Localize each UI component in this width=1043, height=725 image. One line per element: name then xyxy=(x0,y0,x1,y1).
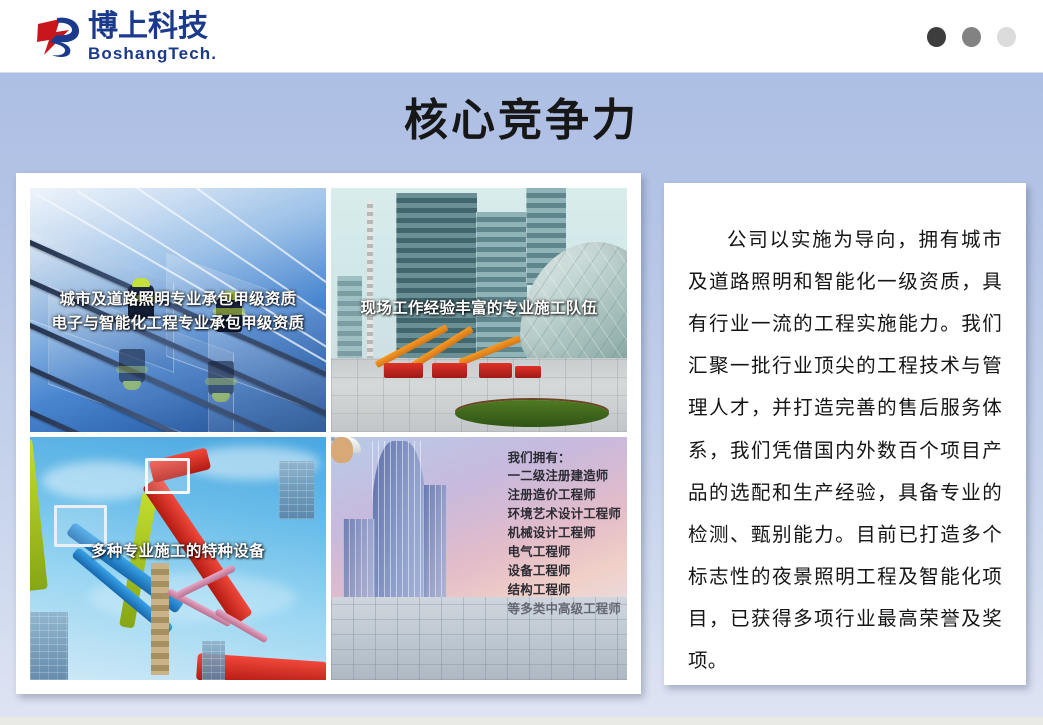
slide-root: 博上科技 BoshangTech. 核心竞争力 xyxy=(0,0,1043,725)
header-dots-group xyxy=(927,0,1016,73)
header-bar: 博上科技 BoshangTech. xyxy=(0,0,1043,73)
dot-dark-icon[interactable] xyxy=(927,27,946,47)
description-paragraph: 公司以实施为导向，拥有城市及道路照明和智能化一级资质，具有行业一流的工程实施能力… xyxy=(688,219,1002,682)
dot-light-icon[interactable] xyxy=(997,27,1016,47)
bottom-strip xyxy=(0,717,1043,725)
logo-english-name: BoshangTech. xyxy=(88,45,217,62)
tile-special-equipment[interactable]: 多种专业施工的特种设备 xyxy=(30,437,326,681)
company-logo[interactable]: 博上科技 BoshangTech. xyxy=(36,12,217,62)
tile-construction-team-artwork xyxy=(331,188,627,432)
tile-engineer-talent[interactable]: 我们拥有： 一二级注册建造师 注册造价工程师 环境艺术设计工程师 机械设计工程师… xyxy=(331,437,627,681)
boshang-b-logo-mark-icon xyxy=(36,15,82,59)
tile-special-equipment-artwork xyxy=(30,437,326,681)
dot-medium-icon[interactable] xyxy=(962,27,981,47)
tile-construction-team[interactable]: 现场工作经验丰富的专业施工队伍 xyxy=(331,188,627,432)
logo-chinese-name: 博上科技 xyxy=(88,12,217,43)
description-card: 公司以实施为导向，拥有城市及道路照明和智能化一级资质，具有行业一流的工程实施能力… xyxy=(664,183,1026,685)
tile-engineer-talent-artwork xyxy=(331,437,627,681)
tile-qualifications-artwork xyxy=(30,188,326,432)
logo-text: 博上科技 BoshangTech. xyxy=(88,12,217,62)
gallery-card: 城市及道路照明专业承包甲级资质 电子与智能化工程专业承包甲级资质 xyxy=(16,173,641,694)
tile-qualifications[interactable]: 城市及道路照明专业承包甲级资质 电子与智能化工程专业承包甲级资质 xyxy=(30,188,326,432)
page-title: 核心竞争力 xyxy=(0,96,1043,147)
gallery-grid: 城市及道路照明专业承包甲级资质 电子与智能化工程专业承包甲级资质 xyxy=(30,188,627,680)
